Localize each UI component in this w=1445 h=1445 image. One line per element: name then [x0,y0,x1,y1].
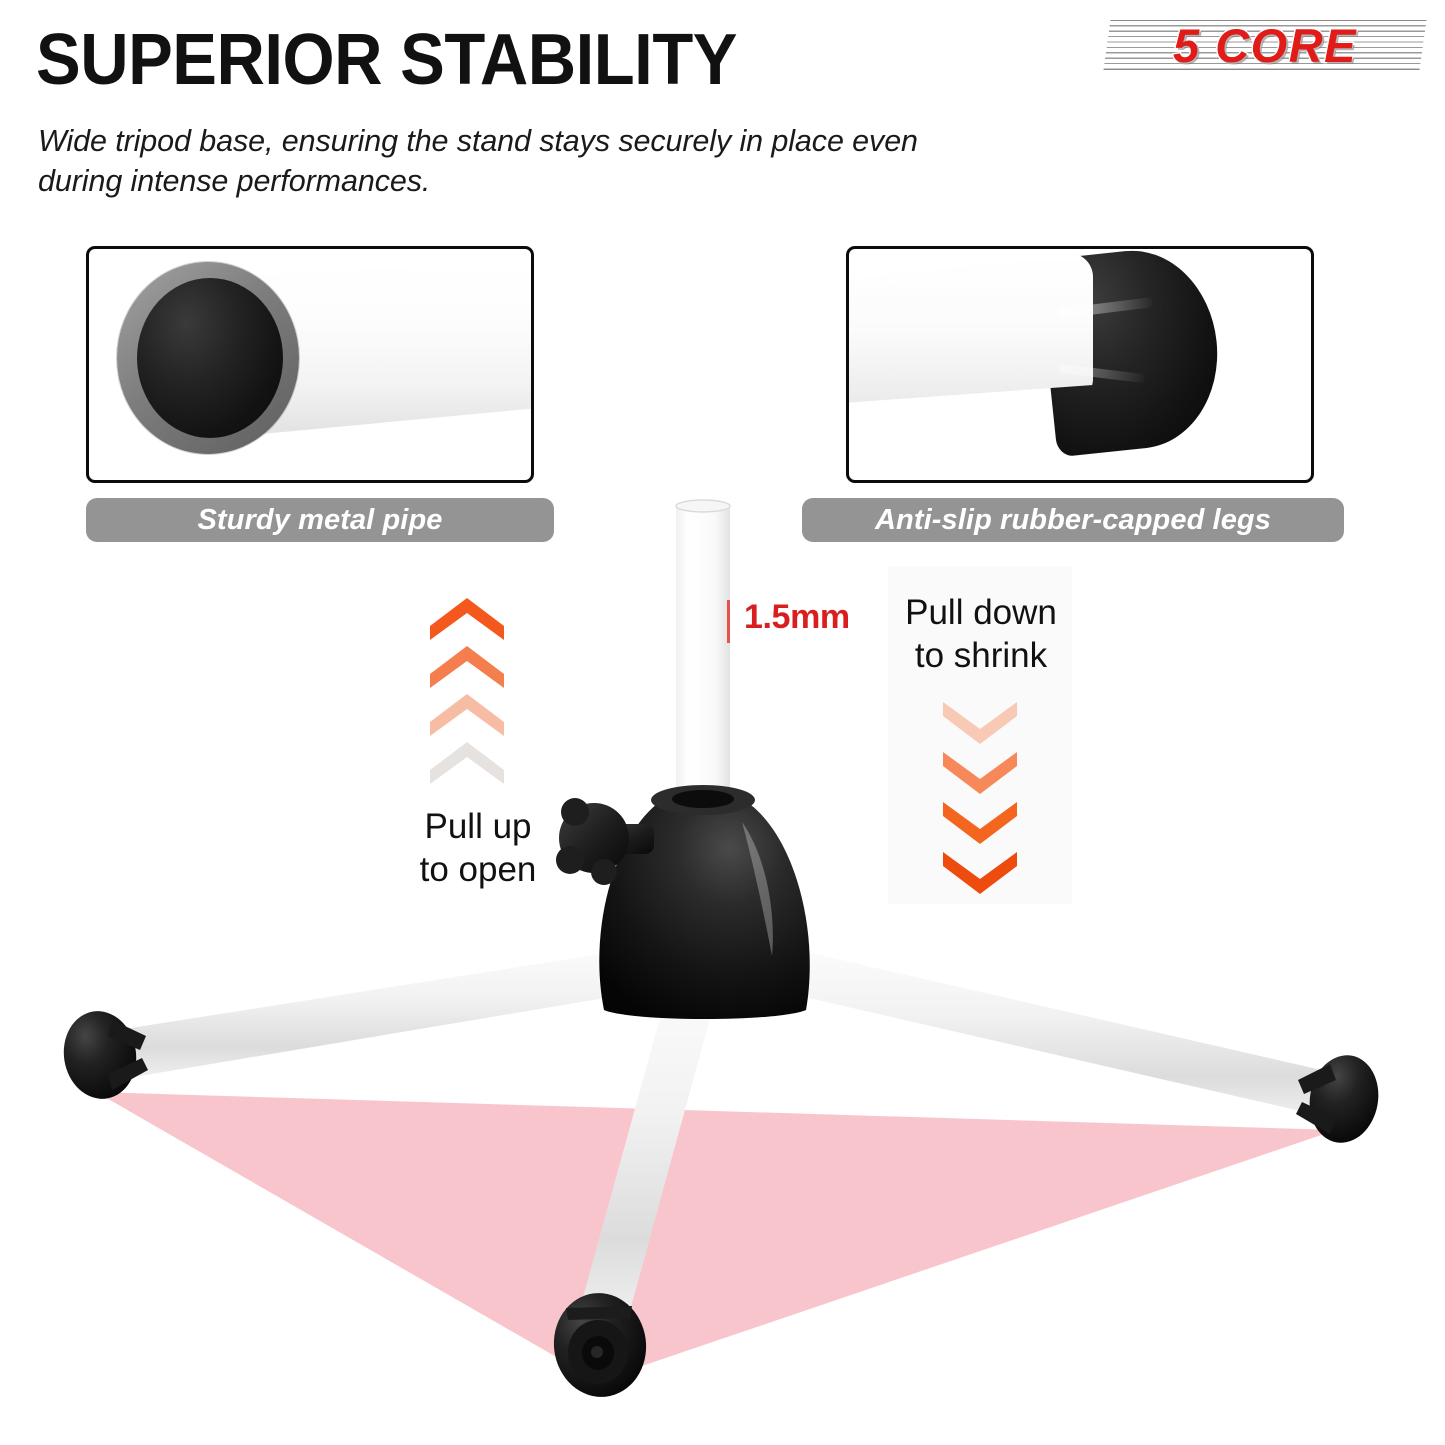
center-column [676,504,730,812]
pull-up-label-line2: to open [388,849,568,892]
thickness-label: 1.5mm [744,598,850,637]
tripod-stand-illustration [0,0,1445,1445]
pull-up-arrow-stack [428,596,518,796]
thickness-tick-mark [727,600,730,643]
pull-down-label: Pull down to shrink [886,592,1076,677]
pull-up-label: Pull up to open [388,806,568,891]
chevron-down-icon-2 [941,750,1019,796]
rubber-foot-left [58,1006,148,1104]
chevron-down-icon-4 [941,850,1019,896]
hub-knob-lobe-c [591,859,617,885]
chevron-up-icon-4 [428,740,506,786]
chevron-down-icon-3 [941,800,1019,846]
product-feature-graphic: 5 CORE SUPERIOR STABILITY Wide tripod ba… [0,0,1445,1445]
chevron-up-icon-3 [428,692,506,738]
pull-down-label-line1: Pull down [886,592,1076,635]
chevron-up-icon-2 [428,644,506,690]
footprint-triangle [96,1092,1336,1381]
chevron-up-icon-1 [428,596,506,642]
chevron-down-icon-1 [941,700,1019,746]
center-column-top-rim [676,500,730,512]
hub-top-opening [672,790,734,808]
pull-down-label-line2: to shrink [886,635,1076,678]
pull-up-label-line1: Pull up [388,806,568,849]
pull-down-arrow-stack [941,700,1031,900]
tripod-leg-right [748,940,1330,1116]
